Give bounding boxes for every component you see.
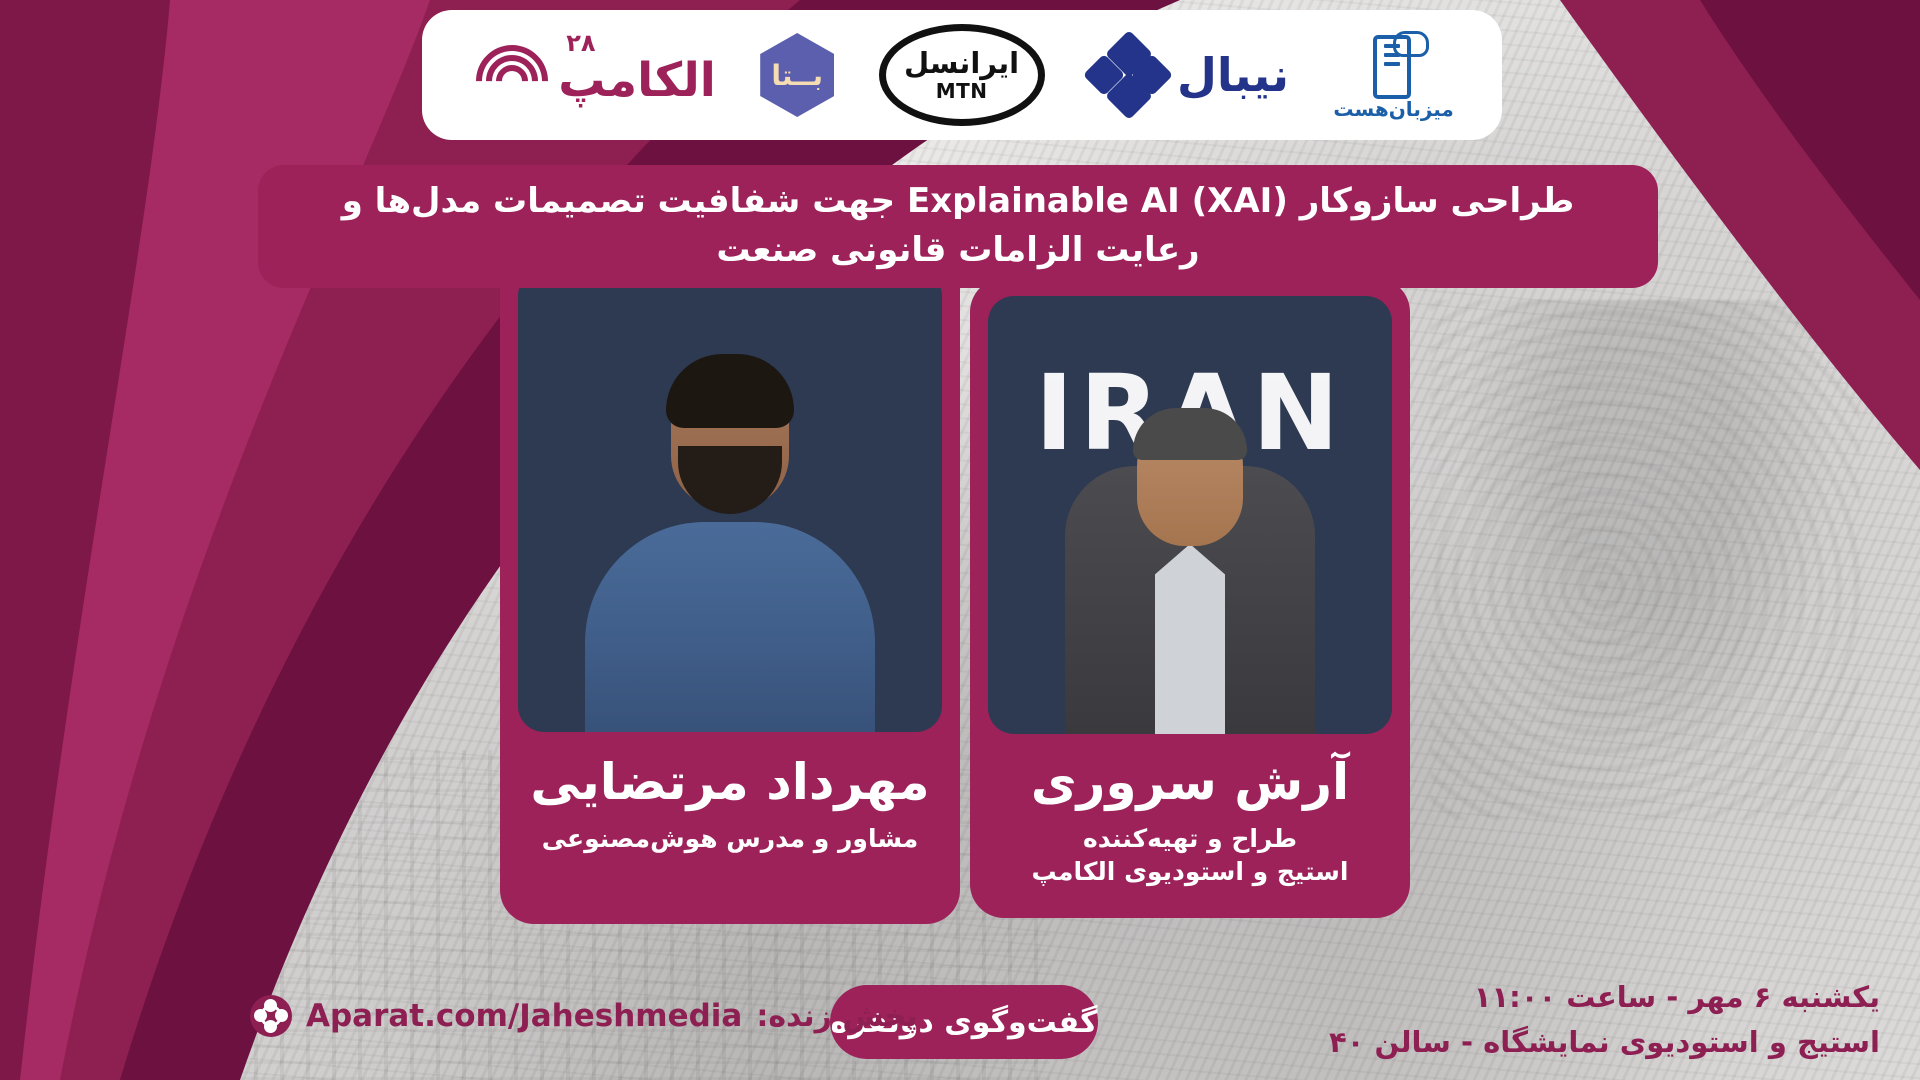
- irancell-logo[interactable]: ایرانسل MTN: [879, 27, 1045, 123]
- sponsor-logo-bar: ۲۸ الکامپ بــتا ایرانسل MTN نیبال: [422, 10, 1502, 140]
- speaker-role-mehrdad: مشاور و مدرس هوش‌مصنوعی: [524, 822, 937, 856]
- speaker-card-mehrdad[interactable]: مهرداد مرتضایی مشاور و مدرس هوش‌مصنوعی: [500, 252, 960, 924]
- server-cloud-icon: [1359, 29, 1429, 93]
- oval-icon: ایرانسل MTN: [879, 24, 1045, 126]
- beta-logo[interactable]: بــتا: [760, 27, 834, 123]
- nobital-logo[interactable]: نیبال: [1089, 27, 1289, 123]
- brand-swoosh-decoration: [0, 0, 1920, 1080]
- session-venue: استیج و استودیوی نمایشگاه - سالن ۴۰: [1329, 1020, 1880, 1065]
- speaker-name-mehrdad: مهرداد مرتضایی: [530, 754, 929, 812]
- irancell-wordmark: ایرانسل: [904, 49, 1019, 78]
- speaker-photo-mehrdad: [518, 270, 942, 732]
- speaker-card-arash[interactable]: IRAN آرش سروری طراح و تهیه‌کننده استیج و…: [970, 278, 1410, 918]
- elecomp-logo[interactable]: ۲۸ الکامپ: [470, 27, 716, 123]
- speaker-name-arash: آرش سروری: [1031, 754, 1349, 812]
- speaker-role-arash-line1: طراح و تهیه‌کننده: [1065, 822, 1315, 856]
- schedule-block: یکشنبه ۶ مهر - ساعت ۱۱:۰۰ استیج و استودی…: [1329, 975, 1880, 1065]
- poster-root: ۲۸ الکامپ بــتا ایرانسل MTN نیبال: [0, 0, 1920, 1080]
- mizbanhost-logo[interactable]: میزبان‌هست: [1333, 27, 1453, 123]
- session-title-banner: طراحی سازوکار (XAI) Explainable AI جهت ش…: [258, 165, 1658, 288]
- mizbanhost-wordmark: میزبان‌هست: [1333, 97, 1453, 121]
- session-date: یکشنبه ۶ مهر - ساعت ۱۱:۰۰: [1329, 975, 1880, 1020]
- elecomp-wordmark: الکامپ: [558, 53, 716, 108]
- elecomp-edition-number: ۲۸: [566, 31, 595, 55]
- live-stream-label: پخش زنده:: [756, 999, 917, 1034]
- live-stream-block[interactable]: پخش زنده: Aparat.com/Jaheshmedia: [250, 995, 918, 1037]
- diamond-cluster-icon: [1089, 37, 1165, 113]
- live-stream-url[interactable]: Aparat.com/Jaheshmedia: [306, 998, 742, 1034]
- beta-wordmark: بــتا: [771, 59, 823, 92]
- aparat-icon: [250, 995, 292, 1037]
- speaker-photo-arash: IRAN: [988, 296, 1392, 734]
- mtn-wordmark: MTN: [936, 81, 988, 101]
- nobital-wordmark: نیبال: [1177, 48, 1289, 102]
- hexagon-icon: بــتا: [760, 33, 834, 117]
- speaker-role-arash-line2: استیج و استودیوی الکامپ: [1014, 855, 1367, 889]
- wifi-swoosh-icon: [470, 42, 548, 108]
- session-title: طراحی سازوکار (XAI) Explainable AI جهت ش…: [298, 177, 1618, 276]
